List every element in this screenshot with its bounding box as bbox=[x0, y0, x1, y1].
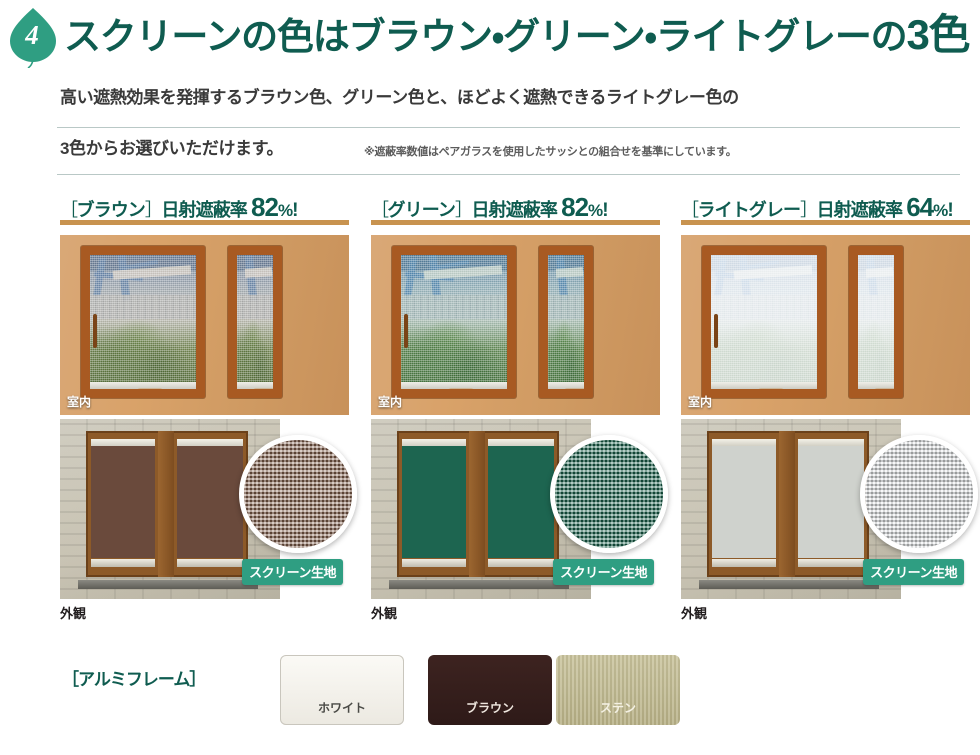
shade-panel-left bbox=[712, 439, 776, 567]
column-heading: ［ブラウン］日射遮蔽率 82%! bbox=[60, 192, 354, 220]
bracket-close: ］ bbox=[145, 200, 162, 220]
percent-symbol: % bbox=[588, 201, 602, 220]
bracket-close: ］ bbox=[455, 200, 472, 220]
column-color-name: グリーン bbox=[388, 200, 456, 220]
bracket-open: ［ bbox=[681, 200, 698, 220]
frame-swatch-white[interactable]: ホワイト bbox=[280, 655, 404, 725]
screen-mesh bbox=[90, 255, 196, 389]
description-line-2: 3色からお選びいただけます。 bbox=[60, 136, 283, 162]
interior-caption: 室内 bbox=[378, 393, 402, 410]
window-glass bbox=[237, 255, 273, 389]
leaf-icon: 4 bbox=[6, 6, 60, 68]
window-latch bbox=[758, 388, 784, 394]
window-handle bbox=[93, 314, 97, 348]
shading-rate-value: 82 bbox=[561, 192, 588, 222]
divider-top bbox=[57, 127, 960, 128]
frame-swatch-sten[interactable]: ステン bbox=[556, 655, 680, 725]
column-heading: ［グリーン］日射遮蔽率 82%! bbox=[371, 192, 665, 220]
fabric-badge: スクリーン生地 bbox=[553, 559, 654, 585]
exterior-window-frame bbox=[397, 431, 559, 577]
window-latch bbox=[253, 388, 279, 394]
shade-panel-left bbox=[91, 439, 155, 567]
frame-swatch-brown[interactable]: ブラウン bbox=[428, 655, 552, 725]
window-handle bbox=[404, 314, 408, 348]
frame-swatch-label: ブラウン bbox=[466, 699, 514, 725]
window-glass bbox=[858, 255, 894, 389]
color-column-light-grey: ［ライトグレー］日射遮蔽率 64%! bbox=[681, 192, 975, 599]
color-column-brown: ［ブラウン］日射遮蔽率 82%! bbox=[60, 192, 354, 599]
window-handle bbox=[714, 314, 718, 348]
shading-rate-value: 64 bbox=[906, 192, 933, 222]
interior-photo-brown: 室内 bbox=[60, 235, 349, 415]
window-latch bbox=[448, 388, 474, 394]
window-mullion bbox=[158, 431, 174, 577]
exterior-window-frame bbox=[86, 431, 248, 577]
fabric-swatch-circle bbox=[550, 435, 668, 553]
interior-photo-green: 室内 bbox=[371, 235, 660, 415]
bracket-close: ］ bbox=[800, 200, 817, 220]
window-large bbox=[81, 246, 205, 398]
badge-number: 4 bbox=[6, 6, 60, 64]
window-small bbox=[539, 246, 593, 398]
fabric-swatch-circle bbox=[860, 435, 978, 553]
interior-caption: 室内 bbox=[688, 393, 712, 410]
exterior-caption: 外観 bbox=[371, 603, 397, 622]
window-mullion bbox=[469, 431, 485, 577]
window-small bbox=[228, 246, 282, 398]
shade-panel-right bbox=[798, 439, 864, 567]
page-title-main: スクリーンの色はブラウン・グリーン・ライトグレーの bbox=[64, 16, 906, 57]
page-title-accent: 3色 bbox=[906, 11, 969, 58]
exterior-photo-brown: スクリーン生地 外観 bbox=[60, 419, 349, 599]
window-large bbox=[702, 246, 826, 398]
shading-label: 日射遮蔽率 bbox=[472, 200, 558, 220]
percent-symbol: % bbox=[933, 201, 947, 220]
shade-panel-left bbox=[402, 439, 466, 567]
interior-caption: 室内 bbox=[67, 393, 91, 410]
screen-mesh bbox=[858, 255, 894, 389]
column-underline bbox=[371, 220, 660, 225]
page-header: 4 スクリーンの色はブラウン・グリーン・ライトグレーの3色 高い遮熱効果を発揮す… bbox=[0, 0, 980, 178]
exterior-caption: 外観 bbox=[60, 603, 86, 622]
frame-swatch-label: ステン bbox=[600, 699, 636, 725]
shading-label: 日射遮蔽率 bbox=[161, 200, 247, 220]
window-latch bbox=[137, 388, 163, 394]
screen-mesh bbox=[237, 255, 273, 389]
frame-swatch-label: ホワイト bbox=[318, 699, 366, 725]
window-ledge bbox=[78, 580, 258, 589]
fabric-texture bbox=[244, 440, 352, 548]
aluminum-frame-section: ［アルミフレーム］ ホワイト ブラウン ステン bbox=[60, 655, 960, 737]
divider-bottom bbox=[57, 174, 960, 175]
screen-mesh bbox=[711, 255, 817, 389]
fabric-texture bbox=[865, 440, 973, 548]
color-column-green: ［グリーン］日射遮蔽率 82%! bbox=[371, 192, 665, 599]
shade-panel-right bbox=[177, 439, 243, 567]
interior-photo-light-grey: 室内 bbox=[681, 235, 970, 415]
page-title: スクリーンの色はブラウン・グリーン・ライトグレーの3色 bbox=[64, 9, 972, 63]
window-latch bbox=[564, 388, 590, 394]
window-large bbox=[392, 246, 516, 398]
shading-label: 日射遮蔽率 bbox=[817, 200, 903, 220]
shading-rate-value: 82 bbox=[251, 192, 278, 222]
screen-mesh bbox=[548, 255, 584, 389]
column-underline bbox=[60, 220, 349, 225]
exclamation: ! bbox=[292, 200, 297, 221]
bracket-open: ［ bbox=[371, 200, 388, 220]
exterior-caption: 外観 bbox=[681, 603, 707, 622]
window-glass bbox=[90, 255, 196, 389]
brochure-page: 4 スクリーンの色はブラウン・グリーン・ライトグレーの3色 高い遮熱効果を発揮す… bbox=[0, 0, 980, 755]
window-glass bbox=[548, 255, 584, 389]
bracket-open: ［ bbox=[60, 200, 77, 220]
column-heading: ［ライトグレー］日射遮蔽率 64%! bbox=[681, 192, 975, 220]
window-glass bbox=[401, 255, 507, 389]
exterior-photo-light-grey: スクリーン生地 外観 bbox=[681, 419, 970, 599]
fabric-badge: スクリーン生地 bbox=[863, 559, 964, 585]
percent-symbol: % bbox=[278, 201, 292, 220]
window-latch bbox=[874, 388, 900, 394]
screen-mesh bbox=[401, 255, 507, 389]
window-ledge bbox=[699, 580, 879, 589]
description-line-1: 高い遮熱効果を発揮するブラウン色、グリーン色と、ほどよく遮熱できるライトグレー色… bbox=[60, 86, 960, 110]
shade-panel-right bbox=[488, 439, 554, 567]
exterior-window-frame bbox=[707, 431, 869, 577]
window-mullion bbox=[779, 431, 795, 577]
window-glass bbox=[711, 255, 817, 389]
aluminum-frame-label: ［アルミフレーム］ bbox=[62, 665, 205, 690]
fabric-swatch-circle bbox=[239, 435, 357, 553]
fabric-badge: スクリーン生地 bbox=[242, 559, 343, 585]
exclamation: ! bbox=[602, 200, 607, 221]
exterior-photo-green: スクリーン生地 外観 bbox=[371, 419, 660, 599]
footnote: ※遮蔽率数値はペアガラスを使用したサッシとの組合せを基準にしています。 bbox=[364, 143, 736, 159]
window-small bbox=[849, 246, 903, 398]
column-color-name: ブラウン bbox=[77, 200, 145, 220]
window-ledge bbox=[389, 580, 569, 589]
fabric-texture bbox=[555, 440, 663, 548]
exclamation: ! bbox=[947, 200, 952, 221]
column-color-name: ライトグレー bbox=[698, 200, 801, 220]
